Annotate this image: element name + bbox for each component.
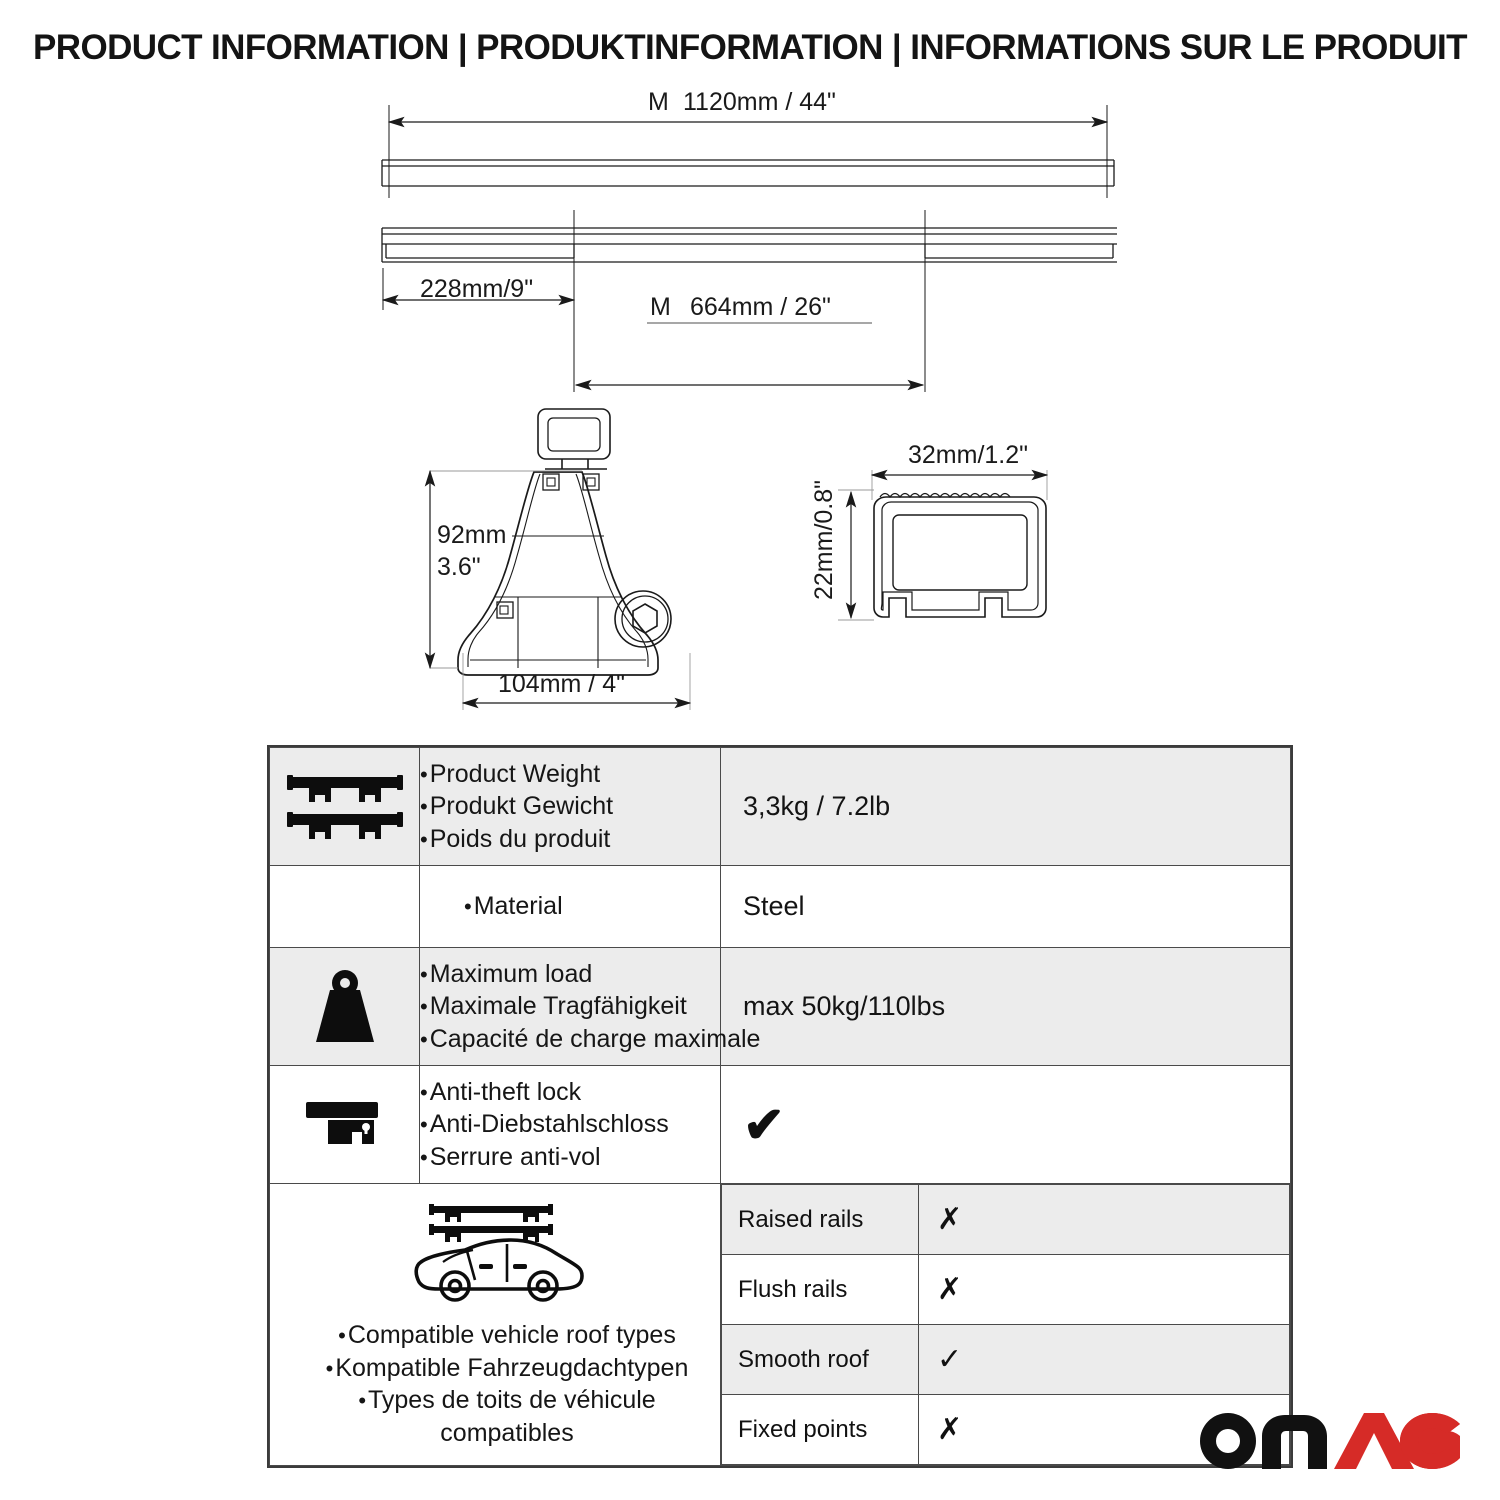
table-row-compatible-roof-types: Compatible vehicle roof types Kompatible…: [270, 1184, 1291, 1466]
table-row-material: Material Steel: [270, 866, 1291, 948]
value-anti-theft-lock: ✔: [721, 1066, 1291, 1184]
value-material: Steel: [721, 866, 1291, 948]
label-line: Material: [464, 890, 716, 923]
compat-mark: ✓: [919, 1325, 1290, 1395]
label-line: Capacité de charge maximale: [420, 1023, 716, 1056]
label-line: Kompatible Fahrzeugdachtypen: [298, 1352, 716, 1385]
dim-bar-length-value: 1120mm / 44": [683, 88, 836, 116]
omac-logo: [1198, 1410, 1462, 1472]
label-line: Types de toits de véhicule compatibles: [298, 1384, 716, 1449]
technical-drawing: M 1120mm / 44" 228mm/9" M 664mm / 26" 92…: [0, 0, 1500, 740]
dim-foot-height-line1: 92mm: [437, 521, 506, 549]
label-line: Maximum load: [420, 958, 716, 991]
compat-name: Flush rails: [722, 1255, 919, 1325]
label-maximum-load: Maximum load Maximale Tragfähigkeit Capa…: [420, 948, 721, 1066]
compat-row-smooth-roof: Smooth roof ✓: [722, 1325, 1290, 1395]
label-line: Produkt Gewicht: [420, 790, 716, 823]
label-line: Compatible vehicle roof types: [298, 1319, 716, 1352]
label-material: Material: [420, 866, 721, 948]
dim-foot-width-value: 104mm / 4": [498, 670, 625, 698]
compat-name: Raised rails: [722, 1185, 919, 1255]
label-line: Serrure anti-vol: [420, 1141, 716, 1174]
compat-mark: ✗: [919, 1255, 1290, 1325]
car-roof-icon: [270, 1196, 720, 1313]
label-line: Anti-Diebstahlschloss: [420, 1108, 716, 1141]
value-product-weight: 3,3kg / 7.2lb: [721, 748, 1291, 866]
weight-icon: [270, 948, 420, 1066]
compatibility-label-cell: Compatible vehicle roof types Kompatible…: [270, 1184, 721, 1466]
table-row-anti-theft-lock: Anti-theft lock Anti-Diebstahlschloss Se…: [270, 1066, 1291, 1184]
dim-foot-spacing-value: 664mm / 26": [690, 293, 831, 321]
label-line: Maximale Tragfähigkeit: [420, 990, 716, 1023]
compat-name: Fixed points: [722, 1395, 919, 1465]
dim-profile-width-value: 32mm/1.2": [908, 441, 1028, 469]
label-line: Product Weight: [420, 758, 716, 791]
compat-mark: ✗: [919, 1185, 1290, 1255]
spec-table: Product Weight Produkt Gewicht Poids du …: [267, 745, 1293, 1468]
compat-row-flush-rails: Flush rails ✗: [722, 1255, 1290, 1325]
table-row-maximum-load: Maximum load Maximale Tragfähigkeit Capa…: [270, 948, 1291, 1066]
lock-icon: [270, 1066, 420, 1184]
label-line: Anti-theft lock: [420, 1076, 716, 1109]
crossbars-icon: [270, 748, 420, 866]
label-line: Poids du produit: [420, 823, 716, 856]
table-row-product-weight: Product Weight Produkt Gewicht Poids du …: [270, 748, 1291, 866]
dim-foot-offset-value: 228mm/9": [420, 275, 533, 303]
compat-row-raised-rails: Raised rails ✗: [722, 1185, 1290, 1255]
compat-name: Smooth roof: [722, 1325, 919, 1395]
dim-bar-length-prefix: M: [648, 88, 669, 116]
material-icon-empty: [270, 866, 420, 948]
dim-profile-height-value: 22mm/0.8": [810, 480, 838, 600]
value-maximum-load: max 50kg/110lbs: [721, 948, 1291, 1066]
label-product-weight: Product Weight Produkt Gewicht Poids du …: [420, 748, 721, 866]
dim-foot-height-line2: 3.6": [437, 553, 481, 581]
dim-foot-spacing-prefix: M: [650, 293, 671, 321]
label-anti-theft-lock: Anti-theft lock Anti-Diebstahlschloss Se…: [420, 1066, 721, 1184]
